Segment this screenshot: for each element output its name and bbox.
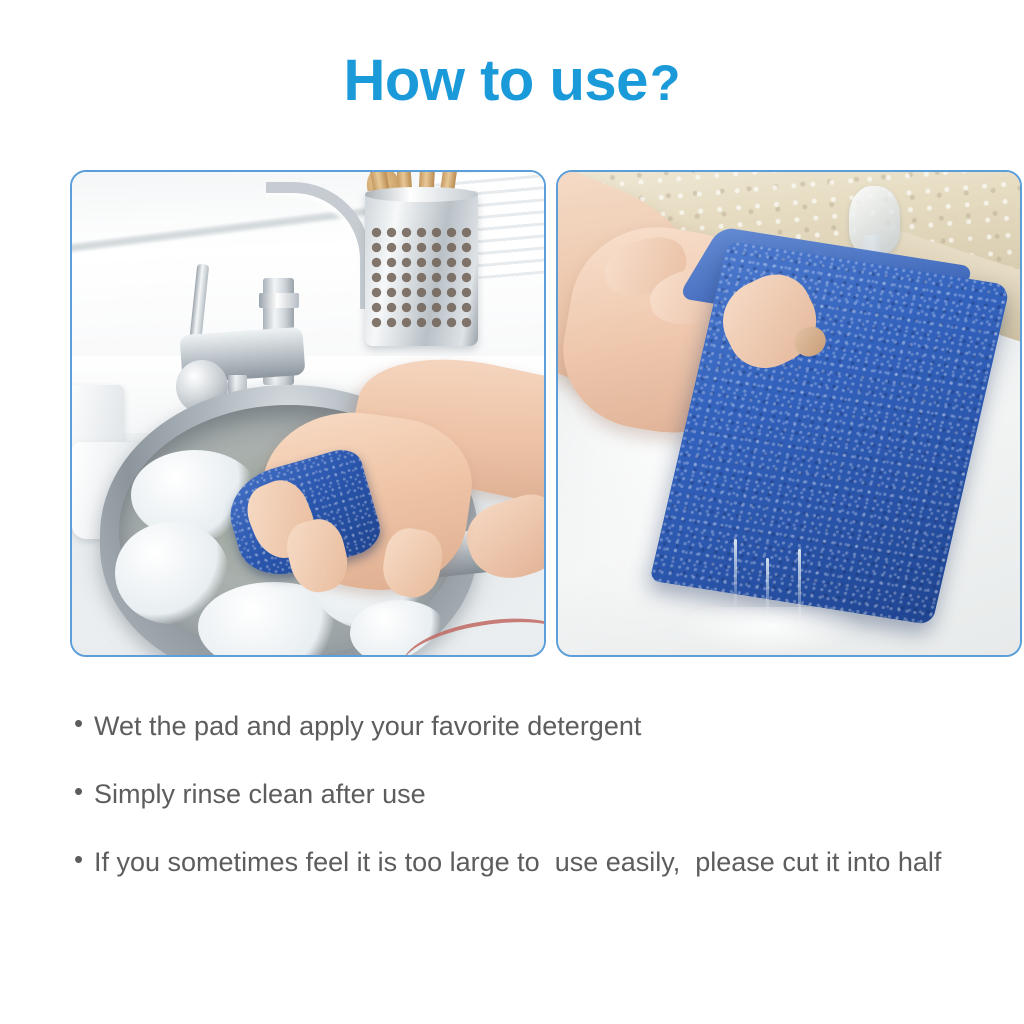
list-item: • If you sometimes feel it is too large …: [74, 842, 1004, 882]
scene-rinsed-pad: [558, 172, 1020, 655]
water-surface-highlight: [678, 607, 863, 655]
bullet-icon: •: [74, 706, 94, 740]
page-title-text: How to use: [344, 48, 648, 113]
list-item: • Simply rinse clean after use: [74, 774, 1004, 814]
water-drip: [734, 539, 737, 616]
instruction-list: • Wet the pad and apply your favorite de…: [74, 706, 1004, 910]
page-title: How to use?: [0, 52, 1024, 110]
utensil-holder-perforations: [369, 225, 473, 331]
bullet-icon: •: [74, 842, 94, 876]
list-item-text: Wet the pad and apply your favorite dete…: [94, 706, 1004, 746]
list-item-text: If you sometimes feel it is too large to…: [94, 842, 1004, 882]
faucet-collar: [259, 293, 299, 308]
sink-stopper-knob: [849, 186, 900, 254]
scene-washing-pot: [72, 172, 544, 655]
list-item: • Wet the pad and apply your favorite de…: [74, 706, 1004, 746]
utensil-holder-rim: [365, 187, 478, 201]
bullet-icon: •: [74, 774, 94, 808]
photo-washing-pot: [70, 170, 546, 657]
page-title-question-mark: ?: [650, 55, 681, 111]
photo-rinsed-pad: [556, 170, 1022, 657]
list-item-text: Simply rinse clean after use: [94, 774, 1004, 814]
